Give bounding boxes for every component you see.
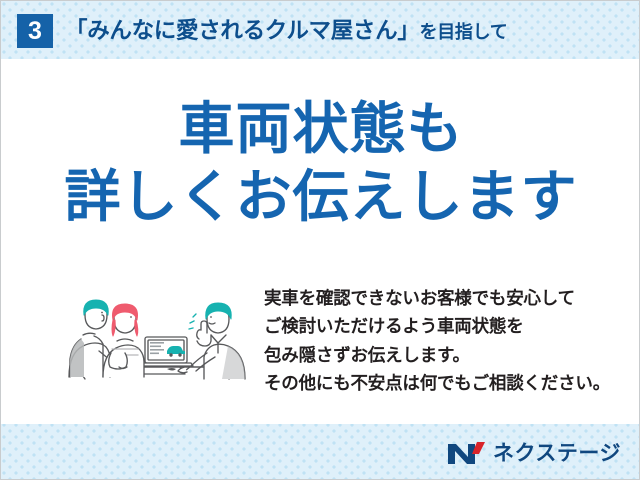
headline-line-2: 詳しくお伝えします — [1, 165, 640, 229]
brand-logo-text: ネクステージ — [493, 443, 621, 464]
brand-logo: ネクステージ — [446, 440, 621, 466]
body-line-2: ご検討いただけるよう車両状態を — [264, 312, 624, 340]
header-title-tail: を目指して — [420, 22, 508, 42]
advertisement-banner: 3 「みんなに愛されるクルマ屋さん」を目指して 車両状態も 詳しくお伝えします — [0, 0, 640, 480]
body-line-1: 実車を確認できないお客様でも安心して — [264, 284, 624, 312]
header: 3 「みんなに愛されるクルマ屋さん」を目指して — [17, 14, 508, 48]
body-line-3: 包み隠さずお伝えします。 — [264, 341, 624, 369]
nextage-n-mark-icon — [446, 440, 486, 466]
body-copy: 実車を確認できないお客様でも安心して ご検討いただけるよう車両状態を 包み隠さず… — [264, 284, 624, 397]
headline: 車両状態も 詳しくお伝えします — [1, 97, 640, 230]
consultation-illustration-svg — [59, 279, 255, 399]
step-number-badge: 3 — [17, 14, 53, 48]
header-title: 「みんなに愛されるクルマ屋さん」を目指して — [65, 20, 508, 43]
header-title-quoted: 「みんなに愛されるクルマ屋さん」 — [65, 18, 420, 43]
body-line-4: その他にも不安点は何でもご相談ください。 — [264, 369, 624, 397]
headline-line-1: 車両状態も — [1, 97, 640, 161]
consultation-illustration — [59, 279, 255, 399]
